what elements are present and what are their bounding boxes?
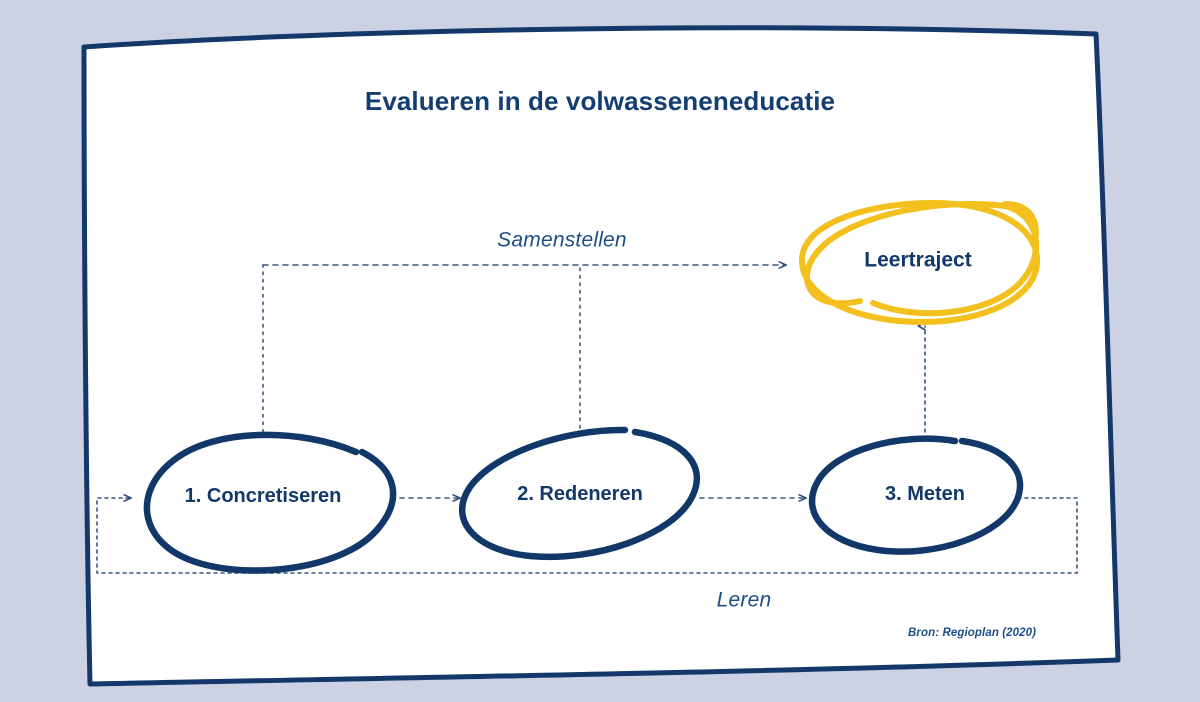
page-title: Evalueren in de volwasseneneducatie: [0, 88, 1200, 114]
card-frame: [84, 28, 1118, 684]
node-label-leertraject[interactable]: Leertraject: [864, 250, 971, 271]
edge-label-samenstellen: Samenstellen: [497, 230, 627, 251]
node-label-meten[interactable]: 3. Meten: [885, 484, 965, 504]
source-note: Bron: Regioplan (2020): [908, 628, 1036, 640]
node-label-concretiseren[interactable]: 1. Concretiseren: [185, 486, 342, 506]
node-label-redeneren[interactable]: 2. Redeneren: [517, 484, 643, 504]
edge-label-leren: Leren: [717, 590, 772, 611]
diagram-canvas: Evalueren in de volwasseneneducatie 1. C…: [0, 0, 1200, 702]
